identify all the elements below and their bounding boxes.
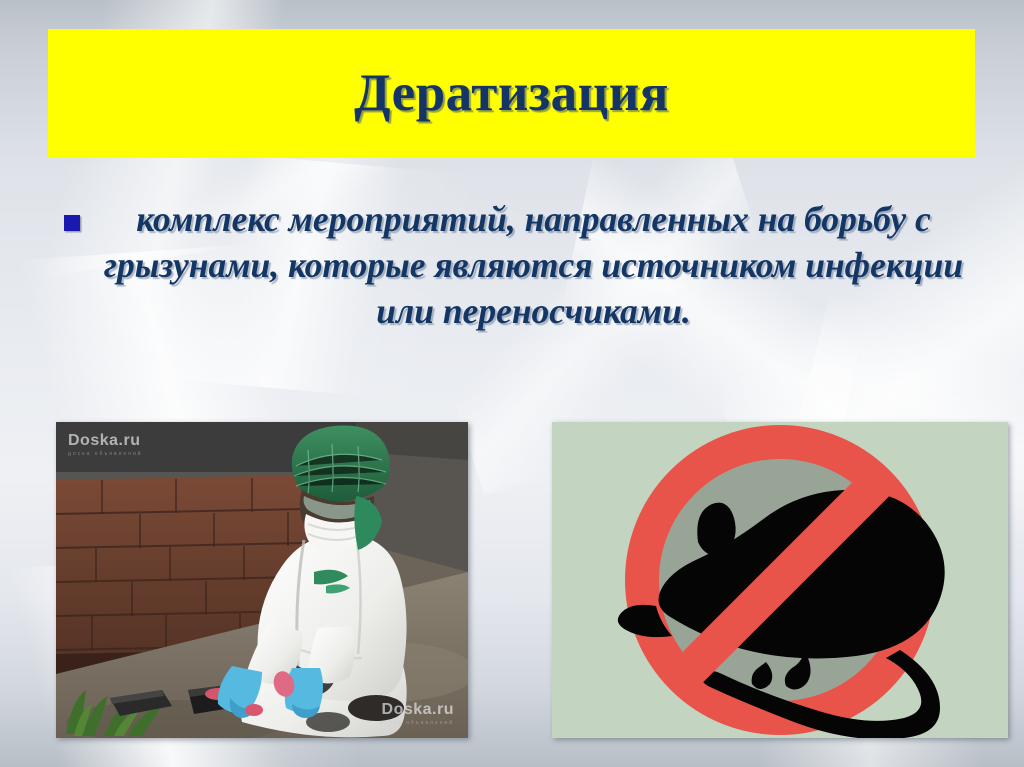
square-bullet-icon: [64, 215, 80, 231]
no-rats-illustration: [552, 422, 1008, 738]
body-paragraph: комплекс мероприятий, направленных на бо…: [55, 196, 970, 334]
worker-photo-illustration: [56, 422, 468, 738]
slide-canvas: Дератизация комплекс мероприятий, направ…: [0, 0, 1024, 767]
pest-control-worker-photo: Doska.ru доска объявлений Doska.ru доска…: [56, 422, 468, 738]
bullet-list-item: комплекс мероприятий, направленных на бо…: [55, 196, 970, 334]
slide-title: Дератизация: [354, 66, 669, 122]
title-banner: Дератизация: [48, 29, 975, 158]
no-rats-prohibition-sign: [552, 422, 1008, 738]
body-content: комплекс мероприятий, направленных на бо…: [55, 196, 970, 334]
